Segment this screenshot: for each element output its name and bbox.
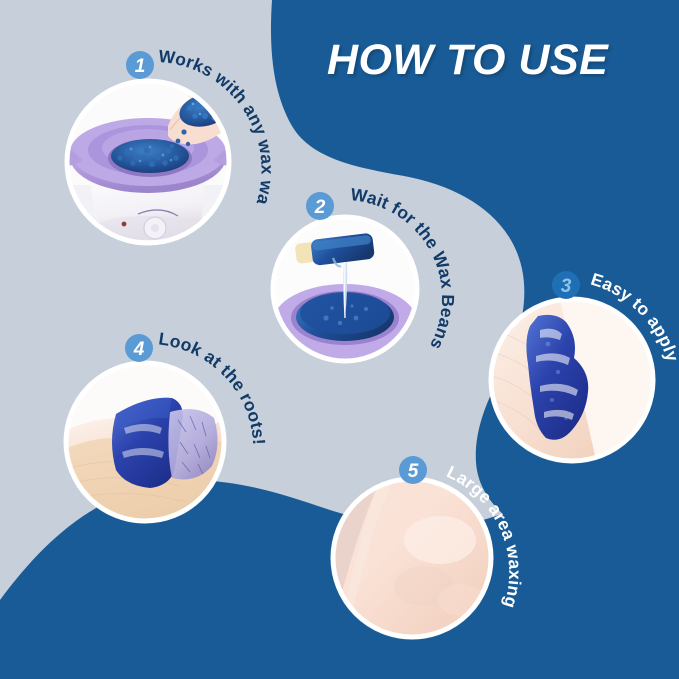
- page-title: HOW TO USE: [327, 36, 608, 85]
- background-wave: [0, 0, 679, 679]
- how-to-use-infographic: 1 Works with any wax warmer 2 Wait for t…: [0, 0, 679, 679]
